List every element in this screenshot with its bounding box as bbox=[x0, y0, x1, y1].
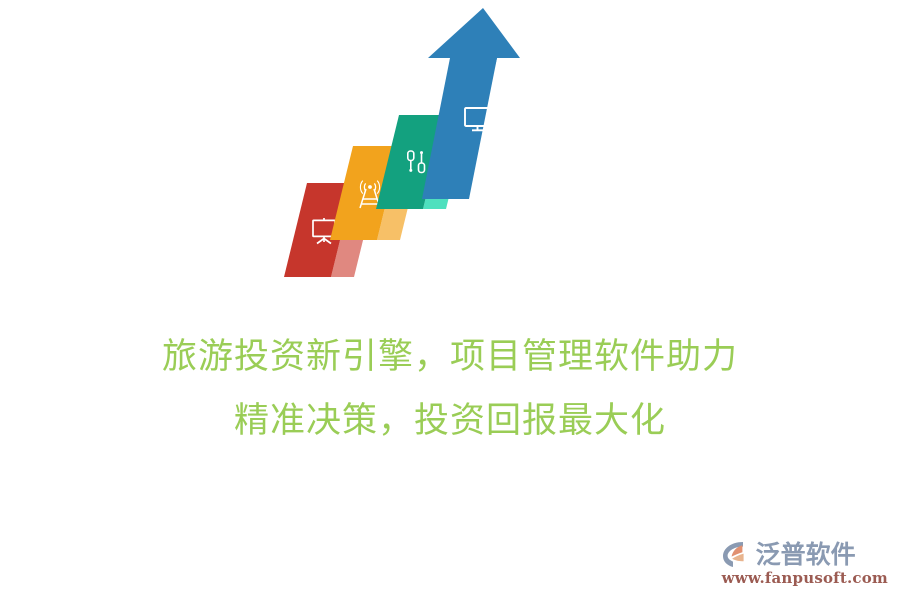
headline: 旅游投资新引擎，项目管理软件助力 精准决策，投资回报最大化 bbox=[0, 325, 900, 453]
watermark-brand-row: 泛普软件 bbox=[721, 539, 856, 569]
segment-blue-arrow bbox=[422, 8, 520, 199]
ascending-arrow-graphic bbox=[280, 5, 570, 305]
watermark-url: www.fanpusoft.com bbox=[722, 571, 888, 586]
headline-line-1: 旅游投资新引擎，项目管理软件助力 bbox=[0, 325, 900, 389]
watermark-brand-name: 泛普软件 bbox=[756, 542, 856, 567]
headline-line-2: 精准决策，投资回报最大化 bbox=[0, 389, 900, 453]
watermark-logo: 泛普软件 www.fanpusoft.com bbox=[721, 539, 888, 586]
fanpu-logo-icon bbox=[721, 539, 753, 569]
poster-canvas: 旅游投资新引擎，项目管理软件助力 精准决策，投资回报最大化 泛普软件 www.f… bbox=[0, 0, 900, 600]
